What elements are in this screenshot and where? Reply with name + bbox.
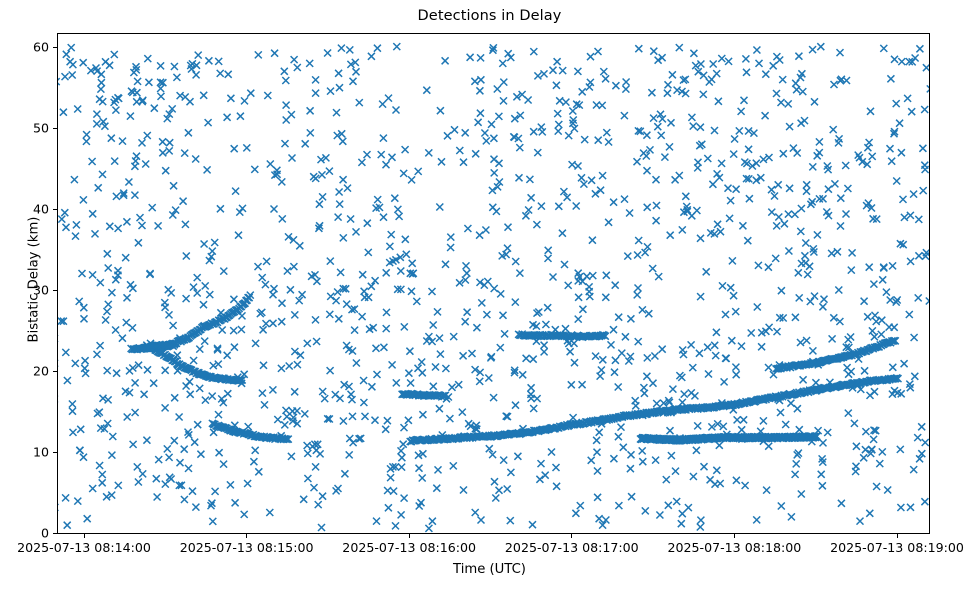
x-tick-mark	[897, 534, 898, 538]
y-axis-label: Bistatic Delay (km)	[27, 150, 42, 410]
x-tick-mark	[409, 534, 410, 538]
figure-canvas: Detections in Delay 0102030405060 2025-0…	[0, 0, 979, 590]
x-axis: 2025-07-13 08:14:002025-07-13 08:15:0020…	[0, 0, 979, 590]
x-tick-mark	[734, 534, 735, 538]
x-tick-label: 2025-07-13 08:19:00	[830, 540, 964, 555]
x-tick-label: 2025-07-13 08:18:00	[668, 540, 802, 555]
x-tick-mark	[246, 534, 247, 538]
x-tick-mark	[571, 534, 572, 538]
x-tick-label: 2025-07-13 08:16:00	[342, 540, 476, 555]
x-tick-mark	[84, 534, 85, 538]
x-tick-label: 2025-07-13 08:15:00	[180, 540, 314, 555]
x-axis-label: Time (UTC)	[0, 562, 979, 577]
x-tick-label: 2025-07-13 08:14:00	[17, 540, 151, 555]
x-tick-label: 2025-07-13 08:17:00	[505, 540, 639, 555]
